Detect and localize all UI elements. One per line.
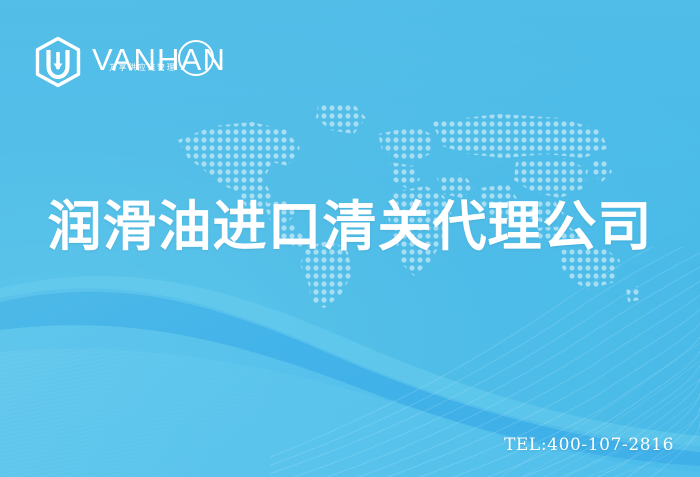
brand-logo[interactable]: VANHAN 万享供应链管理 bbox=[33, 36, 92, 88]
diagonal-hatch-icon bbox=[0, 347, 430, 477]
contact-phone: TEL:400-107-2816 bbox=[504, 435, 674, 455]
page-title: 润滑油进口清关代理公司 bbox=[0, 199, 700, 255]
promo-banner: VANHAN 万享供应链管理 润滑油进口清关代理公司 TEL:400-107-2… bbox=[0, 0, 700, 477]
brand-subtitle: 万享供应链管理 bbox=[109, 64, 176, 72]
hexagon-u-logo-icon bbox=[33, 36, 83, 88]
